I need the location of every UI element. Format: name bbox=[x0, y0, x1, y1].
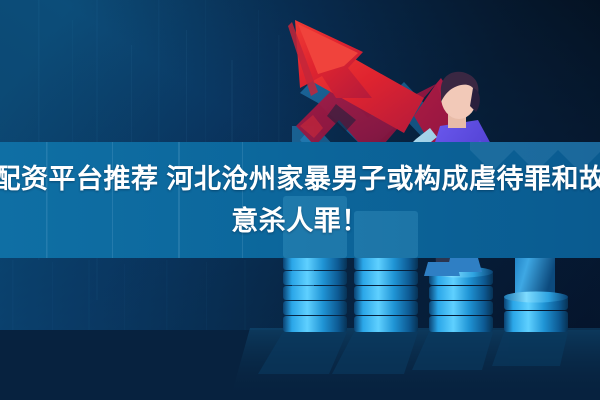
banner-image: 配资平台推荐 河北沧州家暴男子或构成虐待罪和故 意杀人罪！ bbox=[0, 0, 600, 400]
figure-front-shoe bbox=[447, 258, 482, 272]
headline-banner-strip bbox=[0, 142, 600, 258]
illustration-canvas bbox=[0, 0, 600, 400]
coin-stack-3 bbox=[429, 267, 493, 333]
